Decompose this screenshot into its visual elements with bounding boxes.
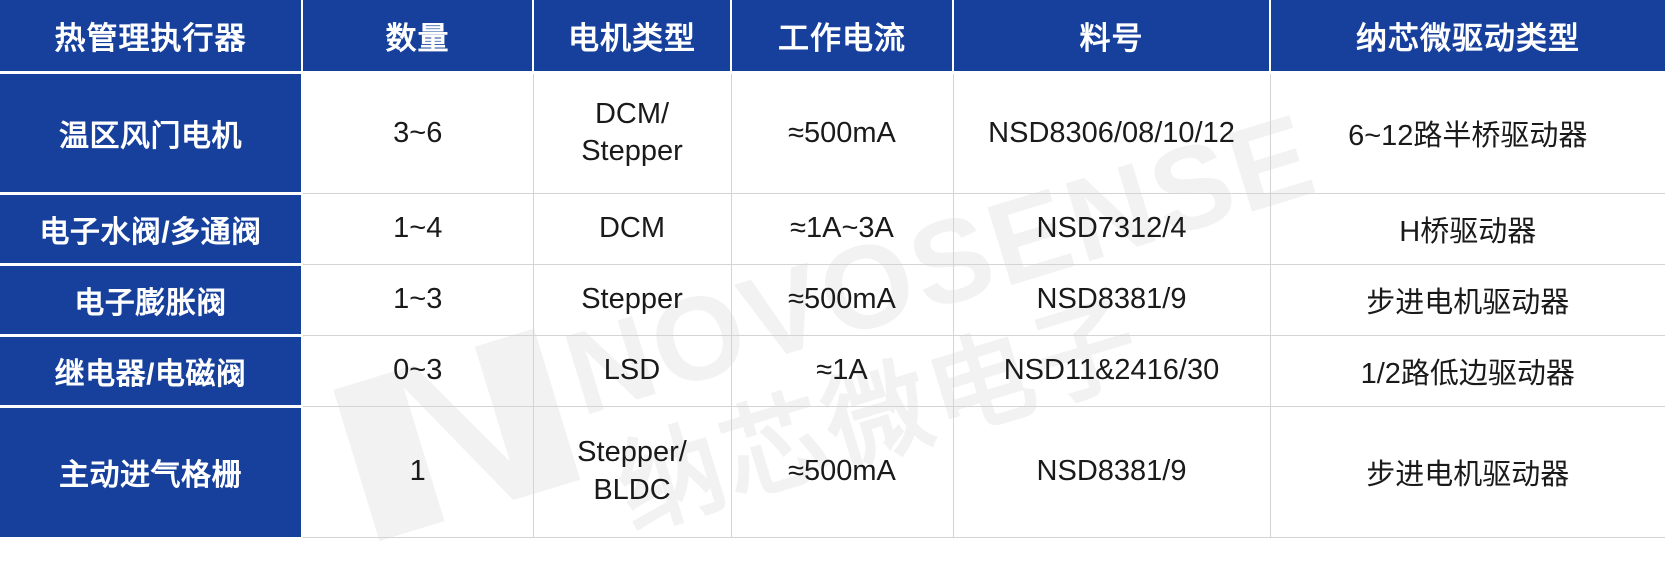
cell-part-number: NSD8306/08/10/12	[953, 72, 1270, 193]
row-label-actuator: 继电器/电磁阀	[0, 335, 302, 406]
thermal-actuator-spec-table: 热管理执行器 数量 电机类型 工作电流 料号 纳芯微驱动类型 温区风门电机 3~…	[0, 0, 1665, 538]
cell-working-current: ≈500mA	[731, 406, 953, 537]
cell-working-current: ≈500mA	[731, 72, 953, 193]
table-header: 热管理执行器 数量 电机类型 工作电流 料号 纳芯微驱动类型	[0, 0, 1665, 72]
cell-quantity: 3~6	[302, 72, 533, 193]
cell-part-number: NSD7312/4	[953, 193, 1270, 264]
row-label-actuator: 温区风门电机	[0, 72, 302, 193]
column-header-driver-type: 纳芯微驱动类型	[1270, 0, 1665, 72]
table-body: 温区风门电机 3~6 DCM/ Stepper ≈500mA NSD8306/0…	[0, 72, 1665, 537]
cell-driver-type: 6~12路半桥驱动器	[1270, 72, 1665, 193]
column-header-actuator: 热管理执行器	[0, 0, 302, 72]
cell-working-current: ≈500mA	[731, 264, 953, 335]
cell-driver-type: 1/2路低边驱动器	[1270, 335, 1665, 406]
table-row: 温区风门电机 3~6 DCM/ Stepper ≈500mA NSD8306/0…	[0, 72, 1665, 193]
column-header-quantity: 数量	[302, 0, 533, 72]
thermal-actuator-spec-table-container: 热管理执行器 数量 电机类型 工作电流 料号 纳芯微驱动类型 温区风门电机 3~…	[0, 0, 1665, 538]
cell-motor-type-line2: BLDC	[540, 472, 725, 509]
cell-motor-type: LSD	[533, 335, 731, 406]
cell-quantity: 1	[302, 406, 533, 537]
table-row: 电子膨胀阀 1~3 Stepper ≈500mA NSD8381/9 步进电机驱…	[0, 264, 1665, 335]
cell-working-current: ≈1A	[731, 335, 953, 406]
cell-motor-type: Stepper	[533, 264, 731, 335]
cell-motor-type-line1: Stepper/	[540, 434, 725, 471]
row-label-actuator: 电子膨胀阀	[0, 264, 302, 335]
cell-part-number: NSD8381/9	[953, 406, 1270, 537]
cell-quantity: 0~3	[302, 335, 533, 406]
table-header-row: 热管理执行器 数量 电机类型 工作电流 料号 纳芯微驱动类型	[0, 0, 1665, 72]
table-row: 主动进气格栅 1 Stepper/ BLDC ≈500mA NSD8381/9 …	[0, 406, 1665, 537]
cell-motor-type: Stepper/ BLDC	[533, 406, 731, 537]
cell-part-number: NSD11&2416/30	[953, 335, 1270, 406]
cell-quantity: 1~4	[302, 193, 533, 264]
cell-motor-type-line2: Stepper	[540, 133, 725, 170]
table-row: 电子水阀/多通阀 1~4 DCM ≈1A~3A NSD7312/4 H桥驱动器	[0, 193, 1665, 264]
table-row: 继电器/电磁阀 0~3 LSD ≈1A NSD11&2416/30 1/2路低边…	[0, 335, 1665, 406]
column-header-part-number: 料号	[953, 0, 1270, 72]
cell-motor-type: DCM	[533, 193, 731, 264]
cell-motor-type: DCM/ Stepper	[533, 72, 731, 193]
column-header-working-current: 工作电流	[731, 0, 953, 72]
cell-quantity: 1~3	[302, 264, 533, 335]
cell-driver-type: 步进电机驱动器	[1270, 264, 1665, 335]
cell-working-current: ≈1A~3A	[731, 193, 953, 264]
row-label-actuator: 主动进气格栅	[0, 406, 302, 537]
cell-part-number: NSD8381/9	[953, 264, 1270, 335]
cell-driver-type: H桥驱动器	[1270, 193, 1665, 264]
row-label-actuator: 电子水阀/多通阀	[0, 193, 302, 264]
column-header-motor-type: 电机类型	[533, 0, 731, 72]
cell-driver-type: 步进电机驱动器	[1270, 406, 1665, 537]
cell-motor-type-line1: DCM/	[540, 96, 725, 133]
